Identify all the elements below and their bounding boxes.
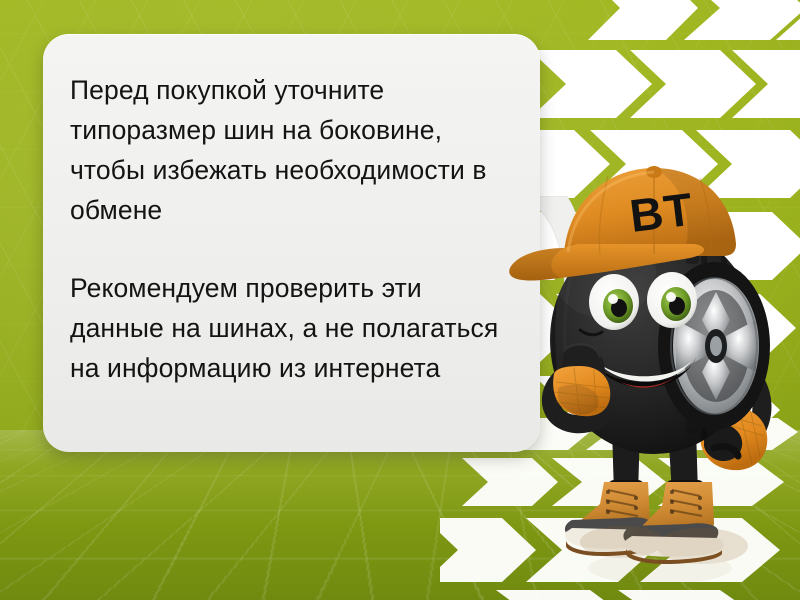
work-boots xyxy=(565,482,724,564)
cap-logo-text: BT xyxy=(627,183,696,242)
promo-banner: Перед покупкой уточните типоразмер шин н… xyxy=(0,0,800,600)
eye-left xyxy=(589,274,639,330)
tire-mascot: BT xyxy=(508,160,800,580)
paragraph-gap xyxy=(70,230,514,268)
eye-right xyxy=(647,272,697,328)
advice-paragraph-2: Рекомендуем проверить эти данные на шина… xyxy=(70,268,514,388)
speech-bubble-text: Перед покупкой уточните типоразмер шин н… xyxy=(70,70,514,388)
advice-paragraph-1: Перед покупкой уточните типоразмер шин н… xyxy=(70,70,514,230)
speech-bubble: Перед покупкой уточните типоразмер шин н… xyxy=(43,34,540,452)
